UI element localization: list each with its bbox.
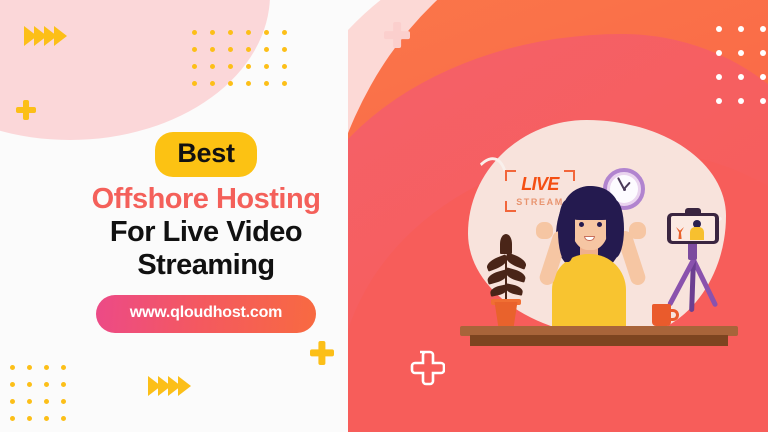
dot <box>210 64 215 69</box>
dot <box>716 50 722 56</box>
clock-center-pin <box>623 188 626 191</box>
headline-line-for-live-video: For Live Video <box>56 217 356 248</box>
dot <box>61 365 66 370</box>
plant-leaf-top <box>500 234 512 254</box>
dot <box>210 47 215 52</box>
dot <box>10 365 15 370</box>
dot <box>192 64 197 69</box>
dot <box>210 81 215 86</box>
dot <box>246 64 251 69</box>
dot <box>228 47 233 52</box>
headline-line-streaming: Streaming <box>56 250 356 281</box>
dot <box>61 382 66 387</box>
dot <box>738 74 744 80</box>
dot <box>264 64 269 69</box>
phone-screen-person-body <box>690 227 704 240</box>
plus-white-outline-icon <box>405 348 445 388</box>
dot <box>10 382 15 387</box>
best-badge: Best <box>155 132 256 177</box>
woman-hand-left <box>536 222 553 239</box>
woman-eye-left <box>579 222 584 227</box>
plus-yellow-bottom-icon <box>310 341 334 365</box>
dot <box>760 98 766 104</box>
headline-block: Best Offshore Hosting For Live Video Str… <box>56 132 356 333</box>
dot <box>760 74 766 80</box>
dot <box>738 26 744 32</box>
phone-screen <box>671 216 715 241</box>
plant-stem <box>505 258 507 302</box>
dot <box>10 416 15 421</box>
dot <box>61 399 66 404</box>
dot <box>760 50 766 56</box>
dot <box>10 399 15 404</box>
dot <box>61 416 66 421</box>
dot <box>228 30 233 35</box>
triangle-icon <box>178 376 191 396</box>
live-streaming-illustration: LIVE STREAM <box>460 118 738 354</box>
dot <box>282 81 287 86</box>
plant-pot <box>493 302 519 326</box>
dot <box>282 64 287 69</box>
dot <box>210 30 215 35</box>
smartphone-icon <box>667 213 719 244</box>
dot <box>246 30 251 35</box>
dot <box>44 399 49 404</box>
promo-banner: Best Offshore Hosting For Live Video Str… <box>0 0 768 432</box>
dot-grid-top-right <box>716 26 768 122</box>
dot <box>27 382 32 387</box>
arrows-bottom-left <box>148 376 188 396</box>
dot <box>716 98 722 104</box>
dot <box>282 47 287 52</box>
desk-front-panel <box>470 335 728 346</box>
page-title: Offshore Hosting For Live Video Streamin… <box>56 184 356 281</box>
phone-screen-plant <box>676 227 684 239</box>
dot <box>27 399 32 404</box>
dot <box>264 30 269 35</box>
triangle-icon <box>54 26 67 46</box>
dot <box>282 30 287 35</box>
dot <box>716 26 722 32</box>
plus-yellow-left-icon <box>16 100 36 120</box>
dot <box>246 81 251 86</box>
dot <box>27 416 32 421</box>
dot <box>44 382 49 387</box>
dot <box>27 365 32 370</box>
dot <box>44 416 49 421</box>
woman-shirt <box>552 254 626 326</box>
coffee-mug-icon <box>652 304 671 326</box>
dot <box>738 98 744 104</box>
dot <box>264 81 269 86</box>
dot-grid-top-left <box>192 30 300 98</box>
dot <box>760 26 766 32</box>
website-url-pill[interactable]: www.qloudhost.com <box>96 295 316 333</box>
plus-pink-top-icon <box>384 22 410 48</box>
live-text: LIVE <box>505 174 575 195</box>
headline-line-offshore-hosting: Offshore Hosting <box>56 184 356 215</box>
dot <box>716 74 722 80</box>
dot <box>44 365 49 370</box>
dot <box>192 47 197 52</box>
arrows-top-left <box>24 26 64 46</box>
dot <box>738 50 744 56</box>
dot-grid-bottom-left <box>10 365 78 432</box>
dot <box>246 47 251 52</box>
woman-hand-right <box>629 222 646 239</box>
dot <box>228 64 233 69</box>
dot <box>192 81 197 86</box>
woman-eye-right <box>597 222 602 227</box>
tripod-neck <box>688 242 697 260</box>
dot <box>264 47 269 52</box>
dot <box>228 81 233 86</box>
dot <box>192 30 197 35</box>
